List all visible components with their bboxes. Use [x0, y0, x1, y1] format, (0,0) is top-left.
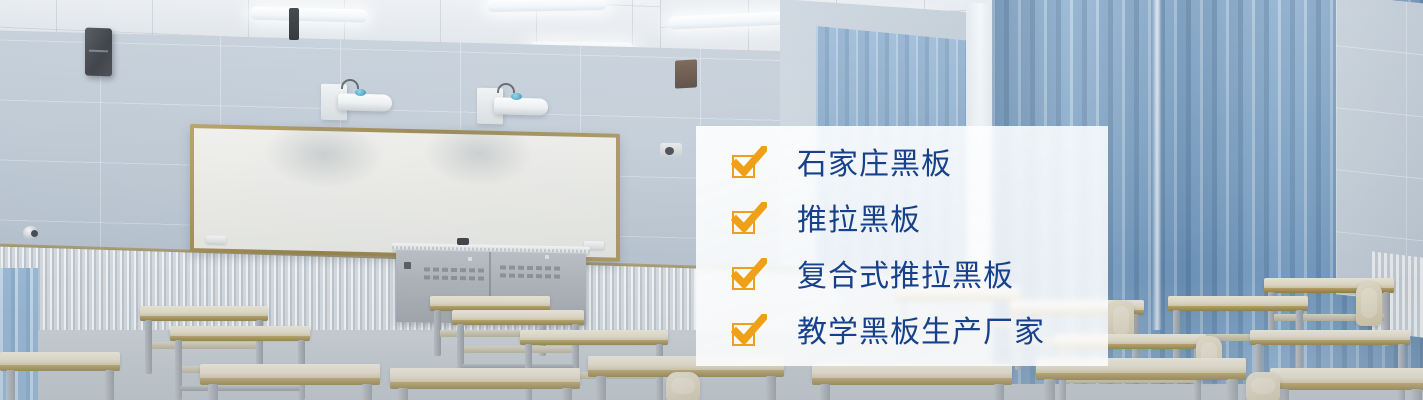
feature-item[interactable]: 复合式推拉黑板 — [696, 249, 1108, 305]
checkmark-icon — [732, 152, 758, 178]
ceiling-light — [487, 0, 607, 12]
ceiling-sensor — [289, 8, 299, 40]
whiteboard — [190, 124, 620, 262]
projector-lens — [355, 89, 366, 96]
feature-label: 教学黑板生产厂家 — [797, 318, 1045, 348]
podium-indicator — [545, 255, 549, 259]
wall-speaker — [85, 28, 112, 77]
whiteboard-reflection — [264, 118, 384, 191]
projector-left — [338, 93, 392, 111]
feature-list-panel: 石家庄黑板 推拉黑板 复合式推拉黑板 — [696, 126, 1108, 366]
promo-banner: 石家庄黑板 推拉黑板 复合式推拉黑板 — [0, 0, 1423, 400]
whiteboard-marker-tray — [206, 235, 226, 243]
student-chair — [666, 372, 700, 400]
podium-switch — [404, 262, 411, 269]
feature-label: 推拉黑板 — [797, 206, 921, 236]
feature-item[interactable]: 推拉黑板 — [696, 193, 1108, 249]
feature-item[interactable]: 教学黑板生产厂家 — [696, 305, 1108, 361]
whiteboard-surface — [194, 128, 616, 258]
ceiling-speaker — [675, 59, 697, 88]
projector-lens — [511, 93, 522, 100]
student-chair — [1246, 372, 1280, 400]
feature-item[interactable]: 石家庄黑板 — [696, 137, 1108, 193]
feature-label: 石家庄黑板 — [797, 150, 952, 180]
wall-camera — [660, 143, 682, 157]
checkmark-icon — [732, 208, 758, 234]
wall-dome-sensor — [23, 226, 39, 240]
checkmark-icon — [732, 320, 758, 346]
checkmark-icon — [732, 264, 758, 290]
podium-indicator — [468, 257, 472, 261]
projector-right — [494, 97, 548, 115]
curtain-gap-light — [1152, 0, 1162, 330]
feature-label: 复合式推拉黑板 — [797, 262, 1014, 292]
student-chair — [1356, 282, 1382, 326]
podium-camera — [457, 238, 469, 245]
